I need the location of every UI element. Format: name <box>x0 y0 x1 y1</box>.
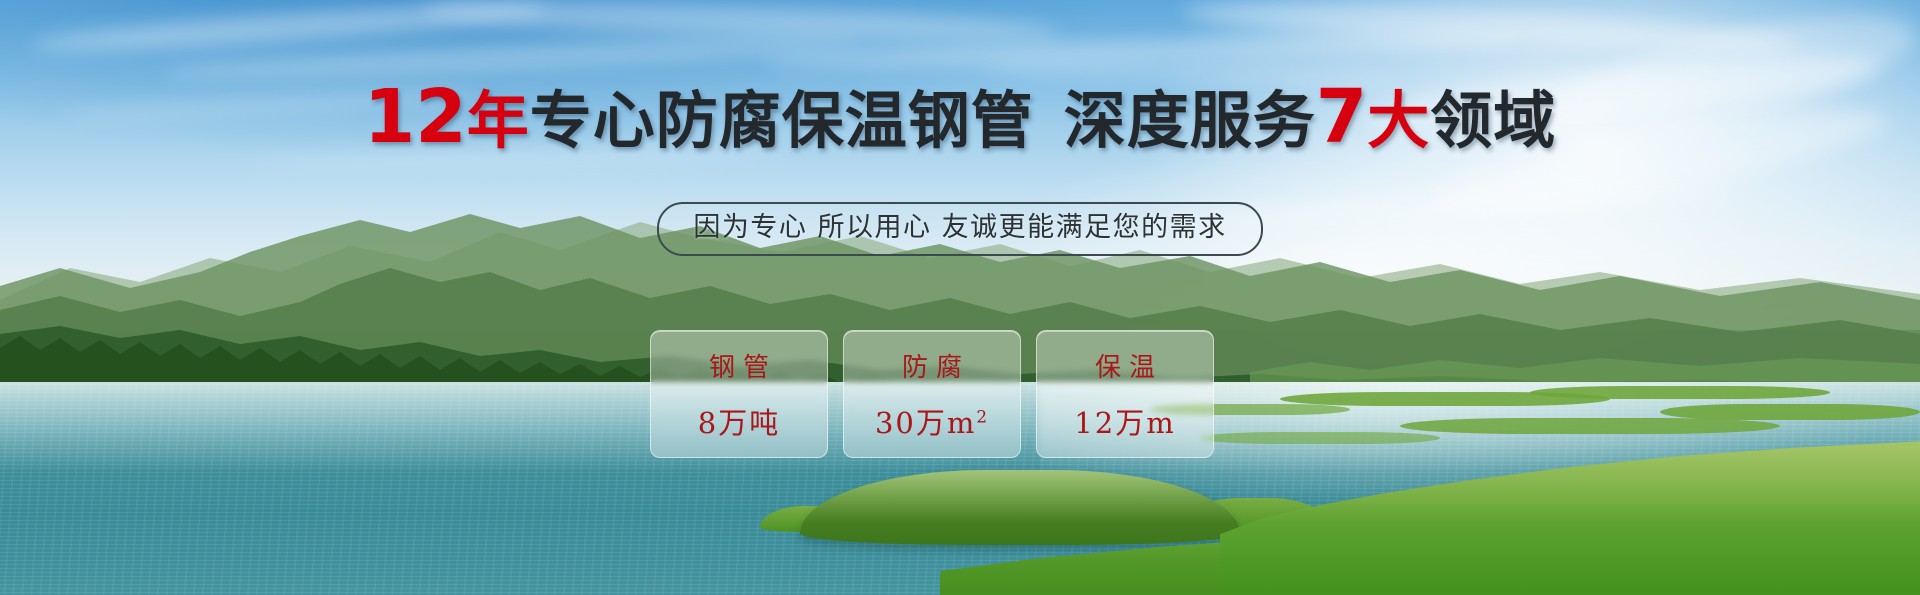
subtitle-container: 因为专心 所以用心 友诚更能满足您的需求 <box>0 202 1920 256</box>
promo-banner: 12年专心防腐保温钢管深度服务7大领域 因为专心 所以用心 友诚更能满足您的需求… <box>0 0 1920 595</box>
marsh-strip <box>1530 386 1830 399</box>
headline-fields-number: 7 <box>1316 74 1368 160</box>
marsh-strip <box>1400 418 1780 434</box>
subtitle-pill: 因为专心 所以用心 友诚更能满足您的需求 <box>657 202 1262 256</box>
stat-card-value: 8万吨 <box>698 400 780 442</box>
stat-card-anticorrosion[interactable]: 防腐 30万m2 <box>843 330 1021 458</box>
stat-card-value: 30万m2 <box>875 400 989 442</box>
stat-card-value-text: 12万m <box>1074 406 1175 440</box>
stat-card-title: 钢管 <box>701 347 777 384</box>
stat-card-steel-pipe[interactable]: 钢管 8万吨 <box>650 330 828 458</box>
stat-card-title: 防腐 <box>894 347 970 384</box>
banner-headline: 12年专心防腐保温钢管深度服务7大领域 <box>0 83 1920 155</box>
stat-card-title: 保温 <box>1087 347 1163 384</box>
stat-card-value-text: 8万吨 <box>698 406 780 440</box>
headline-years-unit: 年 <box>467 84 530 157</box>
stat-card-value-text: 30万m <box>875 406 976 440</box>
stat-card-insulation[interactable]: 保温 12万m <box>1036 330 1214 458</box>
stat-cards-group: 钢管 8万吨 防腐 30万m2 保温 12万m <box>650 330 1214 458</box>
stat-card-value: 12万m <box>1074 400 1175 442</box>
headline-fields-unit: 大 <box>1367 84 1430 157</box>
headline-service-text: 深度服务 <box>1064 84 1316 157</box>
stat-card-value-superscript: 2 <box>976 406 989 426</box>
headline-years-number: 12 <box>364 74 467 160</box>
marsh-strip <box>1200 432 1440 444</box>
headline-fields-text: 领域 <box>1430 84 1556 157</box>
headline-main-text: 专心防腐保温钢管 <box>530 84 1034 157</box>
